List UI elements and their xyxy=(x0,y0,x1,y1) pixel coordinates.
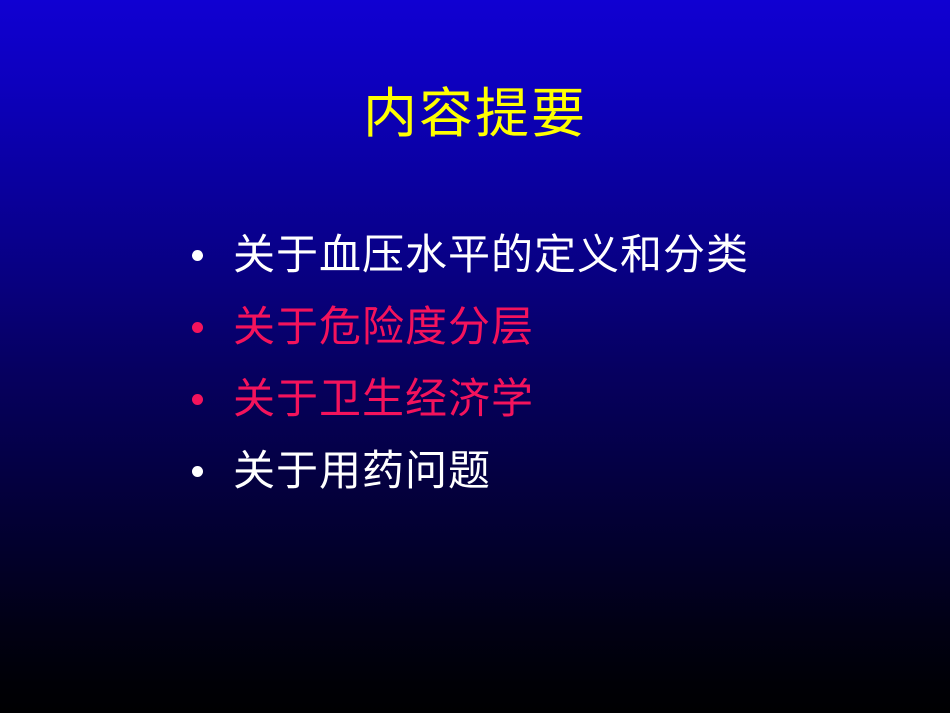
bullet-dot-icon xyxy=(192,394,203,405)
list-item-label: 关于用药问题 xyxy=(233,450,491,492)
list-item-label: 关于卫生经济学 xyxy=(233,378,534,420)
list-item-label: 关于血压水平的定义和分类 xyxy=(233,234,749,276)
bullet-dot-icon xyxy=(192,322,203,333)
list-item-label: 关于危险度分层 xyxy=(233,306,534,348)
list-item[interactable]: 关于卫生经济学 xyxy=(190,363,910,435)
presentation-slide: 内容提要 关于血压水平的定义和分类 关于危险度分层 关于卫生经济学 关于用药问题 xyxy=(0,0,950,713)
page-title: 内容提要 xyxy=(0,84,950,143)
list-item[interactable]: 关于危险度分层 xyxy=(190,291,910,363)
bullet-dot-icon xyxy=(192,250,203,261)
list-item[interactable]: 关于用药问题 xyxy=(190,435,910,507)
bullet-list: 关于血压水平的定义和分类 关于危险度分层 关于卫生经济学 关于用药问题 xyxy=(190,219,910,507)
list-item[interactable]: 关于血压水平的定义和分类 xyxy=(190,219,910,291)
bullet-dot-icon xyxy=(192,466,203,477)
